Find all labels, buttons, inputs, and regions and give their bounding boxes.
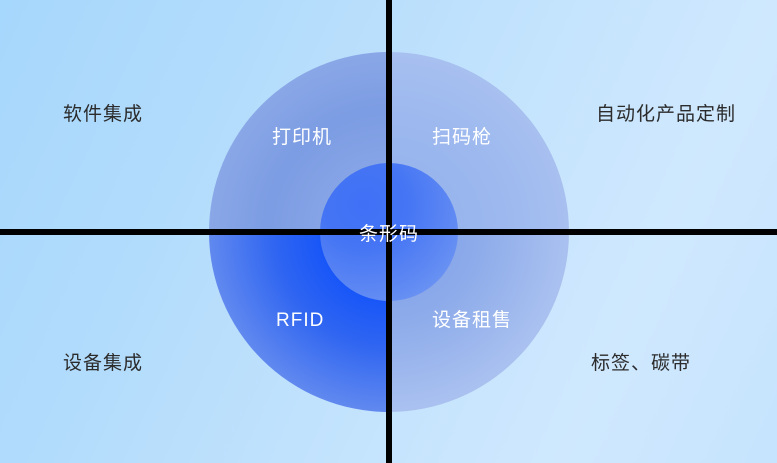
center-circle-label: 条形码 bbox=[320, 163, 458, 301]
outer-label-bottom-right: 标签、碳带 bbox=[591, 354, 691, 373]
quadrant-label-bottom-left: RFID bbox=[276, 311, 324, 330]
quadrant-label-top-right: 扫码枪 bbox=[432, 128, 492, 147]
quadrant-label-top-left: 打印机 bbox=[272, 128, 332, 147]
quadrant-label-bottom-right: 设备租售 bbox=[432, 311, 512, 330]
diagram-canvas: 条形码 打印机 扫码枪 RFID 设备租售 软件集成 自动化产品定制 设备集成 … bbox=[0, 0, 777, 463]
outer-label-bottom-left: 设备集成 bbox=[63, 354, 143, 373]
outer-label-top-right: 自动化产品定制 bbox=[596, 105, 736, 124]
outer-label-top-left: 软件集成 bbox=[63, 105, 143, 124]
